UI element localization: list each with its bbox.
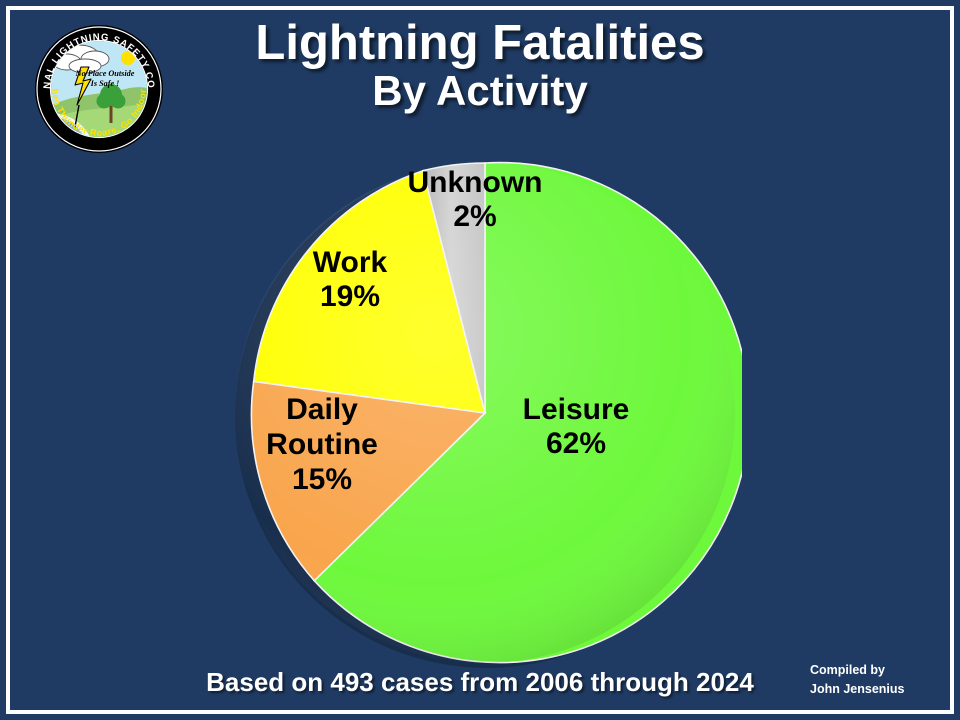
pie-label-daily-routine: Daily Routine 15% — [243, 393, 401, 497]
title-line-2: By Activity — [170, 69, 790, 113]
logo-inner-text-line1: No Place Outside — [75, 69, 135, 78]
page-title: Lightning Fatalities By Activity — [170, 18, 790, 113]
pie-label-daily-routine-name-1: Daily — [243, 393, 401, 428]
national-lightning-safety-council-logo: No Place Outside Is Safe ! NATIONAL LIGH… — [33, 23, 165, 155]
title-line-1: Lightning Fatalities — [170, 18, 790, 69]
pie-label-unknown-name: Unknown — [385, 166, 565, 200]
pie-label-work-name: Work — [276, 246, 424, 280]
pie-label-unknown-percent: 2% — [385, 200, 565, 234]
pie-label-daily-routine-percent: 15% — [243, 463, 401, 498]
credit-line-2: John Jensenius — [810, 680, 940, 699]
logo-seal-icon: No Place Outside Is Safe ! NATIONAL LIGH… — [33, 23, 165, 155]
credit-line-1: Compiled by — [810, 661, 940, 680]
pie-label-leisure: Leisure 62% — [486, 393, 666, 460]
pie-label-daily-routine-name-2: Routine — [243, 428, 401, 463]
credit-block: Compiled by John Jensenius — [810, 661, 940, 699]
pie-label-leisure-percent: 62% — [486, 427, 666, 461]
pie-label-unknown: Unknown 2% — [385, 166, 565, 233]
pie-label-leisure-name: Leisure — [486, 393, 666, 427]
pie-label-work-percent: 19% — [276, 280, 424, 314]
slide-canvas: No Place Outside Is Safe ! NATIONAL LIGH… — [0, 0, 960, 720]
pie-label-work: Work 19% — [276, 246, 424, 313]
logo-inner-text-line2: Is Safe ! — [90, 79, 120, 88]
